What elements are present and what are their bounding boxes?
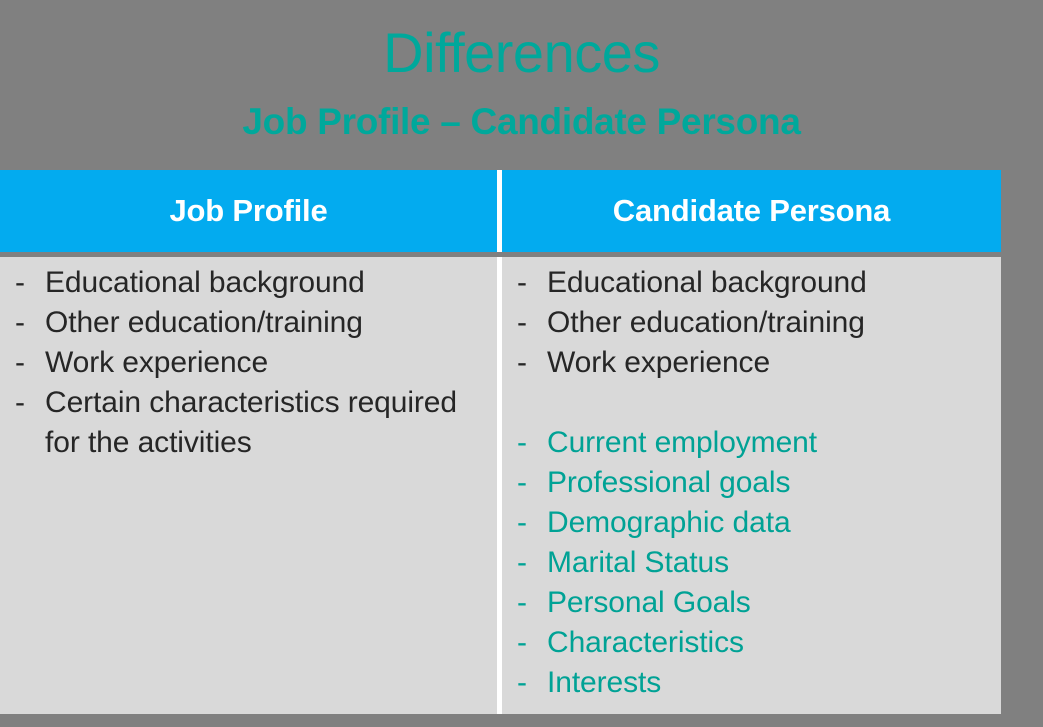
list-item-label: Work experience (547, 343, 1001, 383)
list-item: -Professional goals (502, 463, 1001, 503)
table-body-row: -Educational background-Other education/… (0, 257, 1001, 714)
bottom-background-strip (0, 714, 1043, 727)
list-item-label: Other education/training (547, 303, 1001, 343)
job-profile-bullet-list: -Educational background-Other education/… (0, 263, 497, 463)
list-item: -Educational background (0, 263, 497, 303)
list-item: -Other education/training (502, 303, 1001, 343)
list-item-label: Marital Status (547, 543, 1001, 583)
table-cell-candidate-persona: -Educational background-Other education/… (502, 257, 1001, 714)
list-item: -Marital Status (502, 543, 1001, 583)
bullet-dash-icon: - (502, 463, 547, 503)
list-item: -Personal Goals (502, 583, 1001, 623)
list-item-label: Characteristics (547, 623, 1001, 663)
list-item: -Work experience (0, 343, 497, 383)
list-item: -Certain characteristics required for th… (0, 383, 497, 463)
list-item-label: Educational background (547, 263, 1001, 303)
list-item: -Work experience (502, 343, 1001, 383)
list-item-label: Work experience (45, 343, 497, 383)
bullet-dash-icon: - (0, 383, 45, 423)
list-item: -Educational background (502, 263, 1001, 303)
list-item-label: Certain characteristics required for the… (45, 383, 497, 463)
bullet-dash-icon: - (502, 423, 547, 463)
bullet-dash-icon: - (502, 343, 547, 383)
list-item-label: Educational background (45, 263, 497, 303)
list-item-label: Personal Goals (547, 583, 1001, 623)
bullet-dash-icon: - (502, 503, 547, 543)
bullet-dash-icon: - (502, 303, 547, 343)
page-title: Differences (0, 22, 1043, 84)
list-item-label: Other education/training (45, 303, 497, 343)
list-item-label: Professional goals (547, 463, 1001, 503)
bullet-dash-icon: - (502, 263, 547, 303)
title-block: Differences Job Profile – Candidate Pers… (0, 0, 1043, 168)
list-item: -Other education/training (0, 303, 497, 343)
bullet-dash-icon: - (0, 303, 45, 343)
list-item: -Demographic data (502, 503, 1001, 543)
bullet-dash-icon: - (0, 263, 45, 303)
comparison-table: Job Profile Candidate Persona -Education… (0, 170, 1001, 714)
bullet-dash-icon: - (502, 543, 547, 583)
table-header-candidate-persona: Candidate Persona (502, 170, 1001, 252)
list-item-label: Current employment (547, 423, 1001, 463)
right-background-strip (1001, 0, 1043, 727)
list-item-label: Demographic data (547, 503, 1001, 543)
table-header-job-profile: Job Profile (0, 170, 497, 252)
bullet-dash-icon: - (502, 663, 547, 703)
list-item-label: Interests (547, 663, 1001, 703)
bullet-dash-icon: - (502, 583, 547, 623)
bullet-dash-icon: - (0, 343, 45, 383)
list-spacer (502, 383, 1001, 423)
list-item: -Characteristics (502, 623, 1001, 663)
table-cell-job-profile: -Educational background-Other education/… (0, 257, 497, 714)
candidate-persona-bullet-list: -Educational background-Other education/… (502, 263, 1001, 703)
page-subtitle: Job Profile – Candidate Persona (0, 100, 1043, 144)
list-item: -Current employment (502, 423, 1001, 463)
table-header-row: Job Profile Candidate Persona (0, 170, 1001, 252)
bullet-dash-icon: - (502, 623, 547, 663)
list-item: -Interests (502, 663, 1001, 703)
